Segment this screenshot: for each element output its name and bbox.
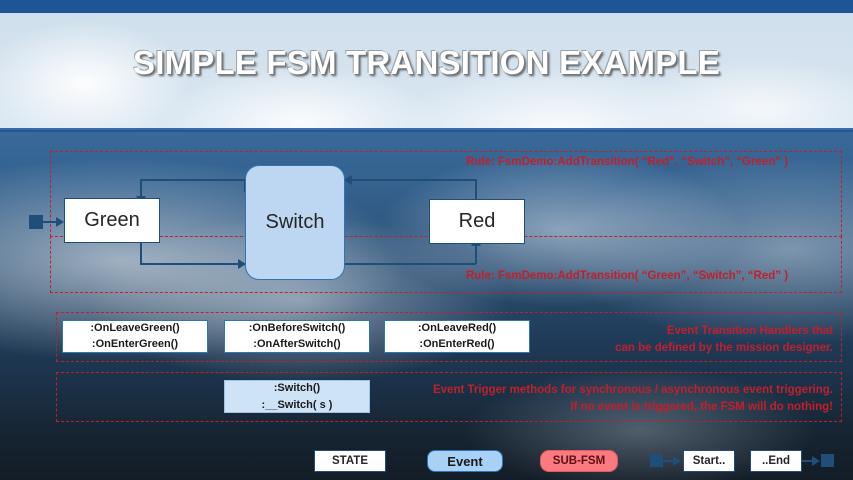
handler-box-green[interactable]: :OnLeaveGreen() :OnEnterGreen() xyxy=(62,320,208,353)
legend-end-label: ..End xyxy=(762,455,790,467)
triggers-note-line1: Event Trigger methods for synchronous / … xyxy=(430,382,833,399)
page-title: SIMPLE FSM TRANSITION EXAMPLE xyxy=(0,44,853,82)
handler-box-switch[interactable]: :OnBeforeSwitch() :OnAfterSwitch() xyxy=(224,320,370,353)
legend-end-arrowhead xyxy=(812,456,820,466)
handler-red-line1: :OnLeaveRed() xyxy=(418,321,496,337)
legend-subfsm[interactable]: SUB-FSM xyxy=(540,450,618,472)
slide-canvas: SIMPLE FSM TRANSITION EXAMPLE Rule: FsmD… xyxy=(0,0,853,480)
legend-start-label: Start.. xyxy=(693,455,726,467)
legend-end-box[interactable]: ..End xyxy=(750,450,802,472)
legend-end-square xyxy=(821,454,834,467)
handler-box-red[interactable]: :OnLeaveRed() :OnEnterRed() xyxy=(384,320,530,353)
arrowhead-into-green-left xyxy=(56,217,64,227)
connector-red-top-up xyxy=(475,179,477,200)
handler-switch-line1: :OnBeforeSwitch() xyxy=(249,321,346,337)
legend-event[interactable]: Event xyxy=(427,450,503,472)
event-label-switch: Switch xyxy=(266,211,325,234)
legend-subfsm-label: SUB-FSM xyxy=(553,455,605,467)
handler-red-line2: :OnEnterRed() xyxy=(419,337,494,353)
state-label-red: Red xyxy=(459,210,496,233)
title-band-underline xyxy=(0,128,853,132)
rule-label-green-to-red: Rule: FsmDemo:AddTransition( “Green”, “S… xyxy=(466,270,788,282)
event-box-switch[interactable]: Switch xyxy=(245,165,345,280)
state-box-green[interactable]: Green xyxy=(64,198,160,243)
handler-green-line1: :OnLeaveGreen() xyxy=(90,321,179,337)
arrowhead-into-switch-top-right xyxy=(344,175,352,185)
trigger-box-switch[interactable]: :Switch() :__Switch( s ) xyxy=(224,380,370,413)
legend-start-arrowhead xyxy=(673,456,681,466)
connector-green-to-switch-bottom xyxy=(140,263,245,265)
trigger-line2: :__Switch( s ) xyxy=(262,397,333,414)
triggers-note: Event Trigger methods for synchronous / … xyxy=(430,382,833,415)
handlers-note: Event Transition Handlers that can be de… xyxy=(540,323,833,356)
legend-state[interactable]: STATE xyxy=(314,450,386,472)
connector-red-to-switch-top xyxy=(352,179,476,181)
triggers-note-line2: If no event is triggered, the FSM will d… xyxy=(430,399,833,416)
connector-into-red-bottom xyxy=(475,244,477,264)
connector-green-bottom-down xyxy=(140,243,142,264)
legend-state-label: STATE xyxy=(332,455,368,467)
start-marker-square xyxy=(29,215,43,229)
top-accent-bar xyxy=(0,0,853,13)
state-label-green: Green xyxy=(84,209,140,232)
legend-start-square xyxy=(650,454,663,467)
rule-label-red-to-green: Rule: FsmDemo:AddTransition( “Red”, “Swi… xyxy=(466,156,788,168)
handler-switch-line2: :OnAfterSwitch() xyxy=(253,337,340,353)
connector-switch-to-red-bottom xyxy=(345,263,476,265)
state-box-red[interactable]: Red xyxy=(429,199,525,244)
handler-green-line2: :OnEnterGreen() xyxy=(92,337,178,353)
trigger-line1: :Switch() xyxy=(274,380,320,397)
legend-event-label: Event xyxy=(447,454,482,469)
handlers-note-line1: Event Transition Handlers that xyxy=(540,323,833,340)
legend-start-box[interactable]: Start.. xyxy=(683,450,735,472)
handlers-note-line2: can be defined by the mission designer. xyxy=(540,340,833,357)
connector-switch-to-green-top xyxy=(140,179,245,181)
